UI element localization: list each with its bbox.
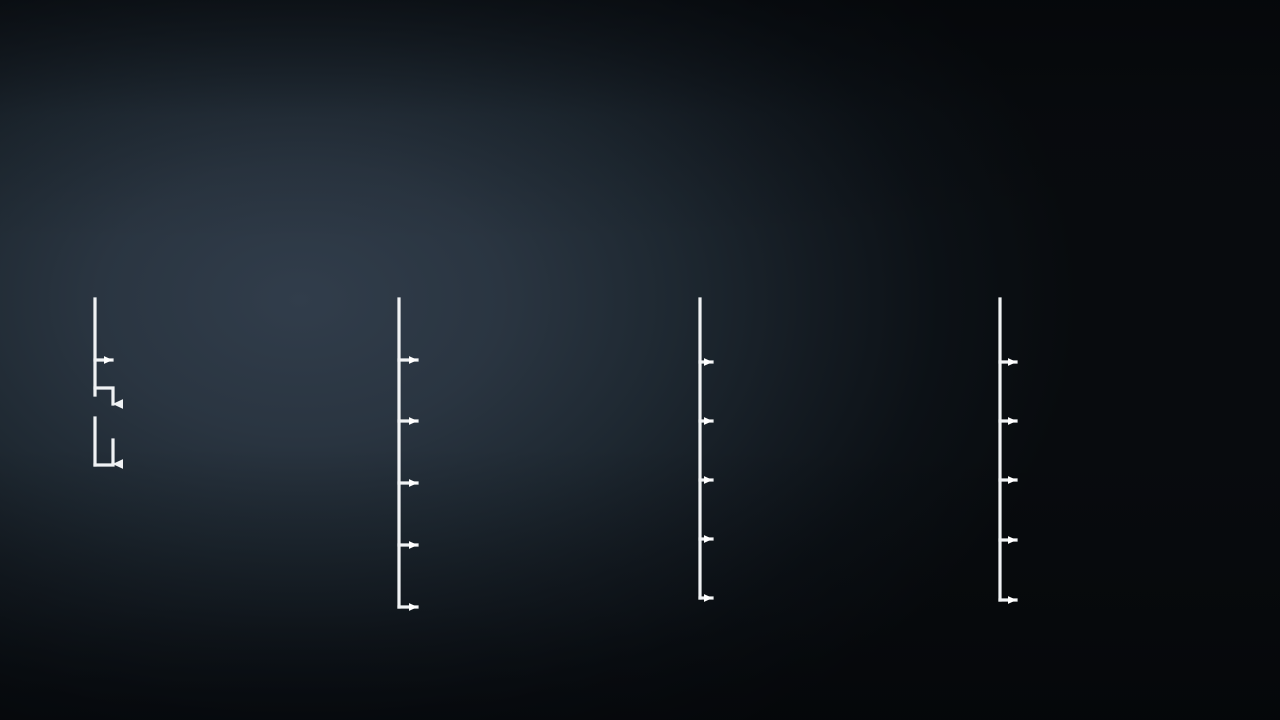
connector-lines [0, 0, 1280, 720]
slide-canvas: 主要功能 攻击欺骗 多样 [0, 0, 1280, 720]
